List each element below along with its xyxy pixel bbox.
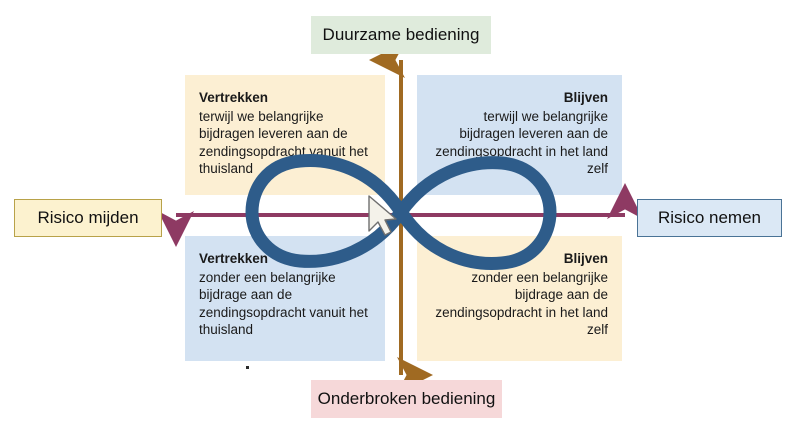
mouse-cursor-icon <box>0 0 789 442</box>
diagram-canvas: Vertrekken terwijl we belangrijke bijdra… <box>0 0 789 442</box>
